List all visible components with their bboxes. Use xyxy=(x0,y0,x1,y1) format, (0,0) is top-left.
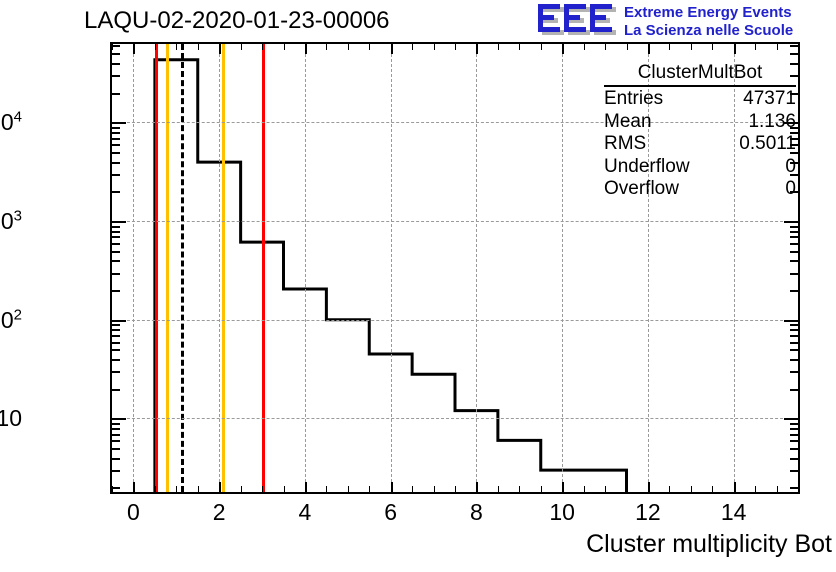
x-minor-tick xyxy=(777,44,778,50)
y-minor-tick xyxy=(112,329,120,331)
y-minor-tick xyxy=(112,138,120,140)
x-minor-tick xyxy=(627,486,628,492)
stats-rows: Entries47371Mean1.136RMS0.5011Underflow0… xyxy=(604,88,796,200)
x-tick-label: 14 xyxy=(721,499,747,525)
x-minor-tick xyxy=(176,486,177,492)
x-tick-label: 0 xyxy=(127,499,140,525)
y-minor-tick xyxy=(112,359,120,361)
y-minor-tick xyxy=(112,152,120,154)
x-major-tick xyxy=(305,482,307,492)
y-minor-tick xyxy=(790,371,798,373)
x-minor-tick xyxy=(498,44,499,50)
stats-value: 0 xyxy=(785,178,796,200)
y-minor-tick xyxy=(790,448,798,450)
y-minor-tick xyxy=(112,93,120,95)
x-tick-label: 12 xyxy=(635,499,661,525)
x-minor-tick xyxy=(669,486,670,492)
eee-logo: Extreme Energy Events La Scienza nelle S… xyxy=(536,2,836,46)
y-tick-label: 104 xyxy=(0,109,22,135)
stats-key: Underflow xyxy=(604,156,690,178)
marker-lower-orange-cut xyxy=(166,44,169,492)
x-tick-label: 10 xyxy=(549,499,575,525)
y-minor-tick xyxy=(790,260,798,262)
x-minor-tick xyxy=(241,486,242,492)
y-minor-tick xyxy=(112,231,120,233)
x-gridline xyxy=(391,44,392,492)
y-minor-tick xyxy=(790,231,798,233)
y-minor-tick xyxy=(790,290,798,292)
y-minor-tick xyxy=(790,359,798,361)
y-minor-tick xyxy=(112,63,120,65)
y-minor-tick xyxy=(790,324,798,326)
y-minor-tick xyxy=(112,428,120,430)
x-minor-tick xyxy=(691,486,692,492)
x-minor-tick xyxy=(519,44,520,50)
y-minor-tick xyxy=(790,458,798,460)
y-minor-tick xyxy=(790,329,798,331)
y-minor-tick xyxy=(112,273,120,275)
y-minor-tick xyxy=(112,440,120,442)
y-minor-tick xyxy=(112,174,120,176)
y-minor-tick xyxy=(112,243,120,245)
y-minor-tick xyxy=(790,434,798,436)
x-major-tick xyxy=(734,482,736,492)
y-minor-tick xyxy=(112,349,120,351)
y-minor-tick xyxy=(112,458,120,460)
y-minor-tick xyxy=(112,371,120,373)
x-minor-tick xyxy=(777,486,778,492)
x-minor-tick xyxy=(798,44,799,50)
root-canvas: LAQU-02-2020-01-23-00006 Extreme Energy … xyxy=(0,0,836,572)
x-minor-tick xyxy=(434,486,435,492)
y-minor-tick xyxy=(790,389,798,391)
y-major-tick xyxy=(112,320,126,322)
x-major-tick xyxy=(648,44,650,54)
x-minor-tick xyxy=(434,44,435,50)
marker-mean-dashed xyxy=(181,44,184,492)
x-major-tick xyxy=(391,44,393,54)
y-minor-tick xyxy=(112,487,120,489)
y-minor-tick xyxy=(112,236,120,238)
y-minor-tick xyxy=(112,53,120,55)
x-tick-label: 4 xyxy=(299,499,312,525)
x-tick-label: 2 xyxy=(213,499,226,525)
x-minor-tick xyxy=(541,44,542,50)
eee-logo-line2: La Scienza nelle Scuole xyxy=(624,22,793,39)
x-gridline xyxy=(562,44,563,492)
x-major-tick xyxy=(562,482,564,492)
y-minor-tick xyxy=(790,45,798,47)
x-minor-tick xyxy=(262,44,263,50)
y-gridline xyxy=(112,221,798,222)
y-minor-tick xyxy=(790,342,798,344)
y-minor-tick xyxy=(112,324,120,326)
y-minor-tick xyxy=(112,132,120,134)
y-minor-tick xyxy=(790,226,798,228)
x-gridline xyxy=(476,44,477,492)
y-major-tick xyxy=(784,418,798,420)
x-major-tick xyxy=(562,44,564,54)
x-minor-tick xyxy=(326,44,327,50)
stats-box: ClusterMultBot Entries47371Mean1.136RMS0… xyxy=(604,62,796,200)
x-gridline xyxy=(133,44,134,492)
y-minor-tick xyxy=(790,470,798,472)
x-minor-tick xyxy=(241,44,242,50)
x-minor-tick xyxy=(584,486,585,492)
stats-row: Underflow0 xyxy=(604,156,796,178)
stats-value: 1.136 xyxy=(748,111,796,133)
x-minor-tick xyxy=(712,44,713,50)
x-minor-tick xyxy=(412,486,413,492)
x-minor-tick xyxy=(412,44,413,50)
x-minor-tick xyxy=(198,44,199,50)
page-title: LAQU-02-2020-01-23-00006 xyxy=(84,7,390,35)
stats-row: Overflow0 xyxy=(604,178,796,200)
y-minor-tick xyxy=(112,335,120,337)
x-minor-tick xyxy=(584,44,585,50)
x-minor-tick xyxy=(605,44,606,50)
stats-key: Entries xyxy=(604,88,663,110)
y-major-tick xyxy=(112,221,126,223)
y-minor-tick xyxy=(790,335,798,337)
y-minor-tick xyxy=(790,273,798,275)
marker-upper-orange-cut xyxy=(222,44,225,492)
y-minor-tick xyxy=(112,191,120,193)
stats-title: ClusterMultBot xyxy=(604,62,796,87)
stats-value: 0 xyxy=(785,156,796,178)
x-major-tick xyxy=(219,44,221,54)
y-minor-tick xyxy=(112,434,120,436)
x-major-tick xyxy=(133,44,135,54)
x-minor-tick xyxy=(348,486,349,492)
x-minor-tick xyxy=(369,44,370,50)
y-minor-tick xyxy=(790,236,798,238)
x-major-tick xyxy=(476,482,478,492)
x-minor-tick xyxy=(627,44,628,50)
y-minor-tick xyxy=(790,53,798,55)
x-tick-label: 8 xyxy=(470,499,483,525)
y-minor-tick xyxy=(790,251,798,253)
eee-logo-mark xyxy=(536,3,618,39)
y-minor-tick xyxy=(112,470,120,472)
marker-upper-red-cut xyxy=(262,44,265,492)
x-gridline xyxy=(219,44,220,492)
x-minor-tick xyxy=(198,486,199,492)
y-minor-tick xyxy=(112,448,120,450)
y-major-tick xyxy=(784,221,798,223)
stats-value: 47371 xyxy=(743,88,796,110)
x-minor-tick xyxy=(691,44,692,50)
x-minor-tick xyxy=(262,486,263,492)
stats-row: RMS0.5011 xyxy=(604,133,796,155)
y-minor-tick xyxy=(790,423,798,425)
y-minor-tick xyxy=(790,428,798,430)
y-minor-tick xyxy=(112,45,120,47)
y-minor-tick xyxy=(112,226,120,228)
x-minor-tick xyxy=(541,486,542,492)
x-minor-tick xyxy=(669,44,670,50)
y-minor-tick xyxy=(112,251,120,253)
eee-logo-line1: Extreme Energy Events xyxy=(624,4,792,21)
stats-row: Mean1.136 xyxy=(604,111,796,133)
x-gridline xyxy=(305,44,306,492)
marker-lower-red-cut xyxy=(155,44,158,492)
x-minor-tick xyxy=(498,486,499,492)
y-minor-tick xyxy=(112,75,120,77)
x-major-tick xyxy=(133,482,135,492)
y-tick-label: 102 xyxy=(0,307,22,333)
y-minor-tick xyxy=(790,243,798,245)
x-minor-tick xyxy=(284,44,285,50)
y-minor-tick xyxy=(112,389,120,391)
x-axis-title: Cluster multiplicity Bot xyxy=(586,530,836,558)
y-gridline xyxy=(112,418,798,419)
x-major-tick xyxy=(648,482,650,492)
y-minor-tick xyxy=(112,127,120,129)
y-tick-label: 10 xyxy=(0,405,22,431)
x-minor-tick xyxy=(455,486,456,492)
x-minor-tick xyxy=(798,486,799,492)
x-minor-tick xyxy=(755,486,756,492)
y-minor-tick xyxy=(790,440,798,442)
x-major-tick xyxy=(734,44,736,54)
x-minor-tick xyxy=(348,44,349,50)
x-minor-tick xyxy=(326,486,327,492)
y-minor-tick xyxy=(112,260,120,262)
y-major-tick xyxy=(784,320,798,322)
y-minor-tick xyxy=(112,144,120,146)
stats-key: Overflow xyxy=(604,178,679,200)
x-major-tick xyxy=(219,482,221,492)
x-major-tick xyxy=(391,482,393,492)
y-tick-label: 103 xyxy=(0,208,22,234)
y-gridline xyxy=(112,320,798,321)
y-minor-tick xyxy=(112,162,120,164)
x-minor-tick xyxy=(155,44,156,50)
x-minor-tick xyxy=(369,486,370,492)
y-major-tick xyxy=(112,418,126,420)
y-minor-tick xyxy=(790,349,798,351)
y-minor-tick xyxy=(790,487,798,489)
x-minor-tick xyxy=(455,44,456,50)
x-major-tick xyxy=(476,44,478,54)
y-minor-tick xyxy=(112,423,120,425)
y-minor-tick xyxy=(112,342,120,344)
x-minor-tick xyxy=(712,486,713,492)
stats-key: RMS xyxy=(604,133,646,155)
y-minor-tick xyxy=(112,290,120,292)
stats-key: Mean xyxy=(604,111,652,133)
x-minor-tick xyxy=(176,44,177,50)
x-minor-tick xyxy=(519,486,520,492)
x-minor-tick xyxy=(755,44,756,50)
x-minor-tick xyxy=(284,486,285,492)
x-tick-label: 6 xyxy=(384,499,397,525)
stats-value: 0.5011 xyxy=(739,133,796,155)
stats-row: Entries47371 xyxy=(604,88,796,110)
x-minor-tick xyxy=(155,486,156,492)
x-minor-tick xyxy=(605,486,606,492)
x-major-tick xyxy=(305,44,307,54)
y-major-tick xyxy=(112,122,126,124)
